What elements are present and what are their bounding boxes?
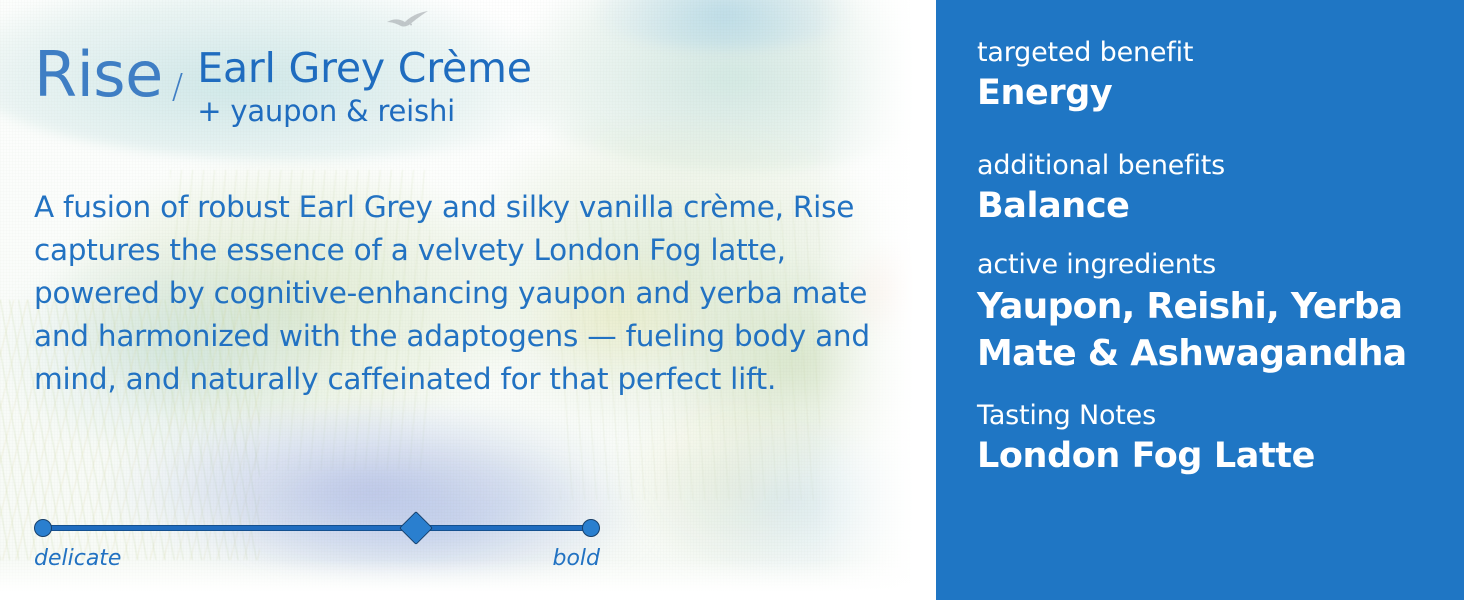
spec-value: London Fog Latte [977, 434, 1436, 478]
spec-panel: targeted benefit Energy additional benef… [936, 0, 1464, 600]
spec-label: additional benefits [977, 149, 1436, 183]
spec-label: targeted benefit [977, 36, 1436, 70]
watercolor-panel: Rise / Earl Grey Crème + yaupon & reishi… [0, 0, 936, 600]
adjunct-ingredients: + yaupon & reishi [197, 94, 532, 128]
slider-max-label: bold [552, 546, 600, 571]
slider-labels: delicate bold [34, 546, 600, 571]
product-description: A fusion of robust Earl Grey and silky v… [34, 186, 914, 401]
brand-name: Rise [34, 44, 163, 106]
spec-value: Energy [977, 71, 1436, 115]
title-separator: / [172, 70, 183, 104]
product-title: Rise / Earl Grey Crème + yaupon & reishi [34, 44, 532, 128]
slider-track[interactable] [42, 525, 592, 531]
variant-block: Earl Grey Crème + yaupon & reishi [197, 44, 532, 128]
slider-min-label: delicate [34, 546, 121, 571]
product-card: Rise / Earl Grey Crème + yaupon & reishi… [0, 0, 1464, 600]
spec-tasting-notes: Tasting Notes London Fog Latte [977, 399, 1436, 478]
spec-value: Yaupon, Reishi, Yerba Mate & Ashwagandha [977, 283, 1436, 377]
slider-thumb[interactable] [399, 511, 433, 545]
spec-additional-benefits: additional benefits Balance [977, 149, 1436, 228]
intensity-slider[interactable]: delicate bold [34, 514, 600, 584]
spec-active-ingredients: active ingredients Yaupon, Reishi, Yerba… [977, 248, 1436, 377]
slider-max-endpoint [582, 519, 600, 537]
spec-label: active ingredients [977, 248, 1436, 282]
slider-min-endpoint [34, 519, 52, 537]
variant-name: Earl Grey Crème [197, 44, 532, 92]
spec-targeted-benefit: targeted benefit Energy [977, 36, 1436, 115]
spec-label: Tasting Notes [977, 399, 1436, 433]
spec-value: Balance [977, 184, 1436, 228]
